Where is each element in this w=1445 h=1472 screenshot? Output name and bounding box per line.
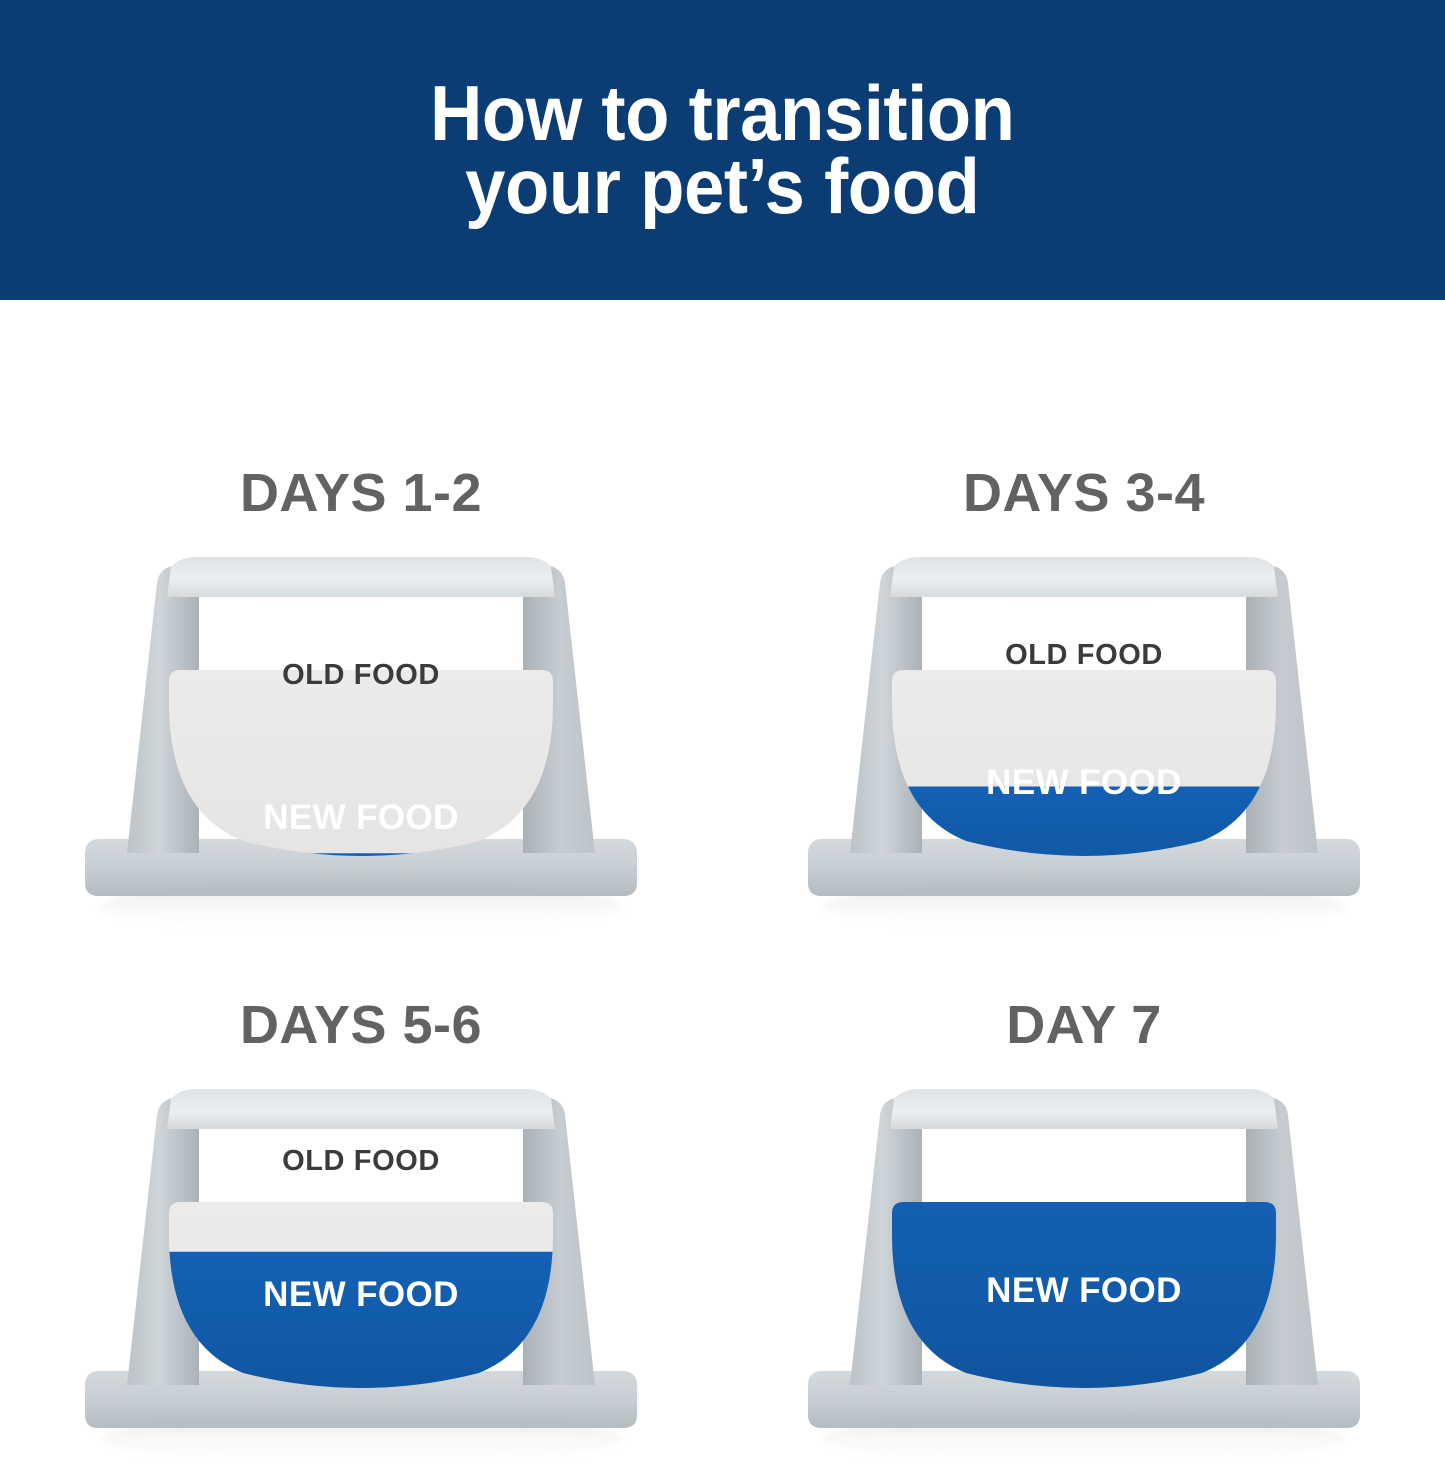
page-title-line-1: How to transition (430, 77, 1014, 150)
bowl-panel: DAY 7 (723, 900, 1445, 1472)
bowl-rim (890, 1089, 1278, 1129)
bowl-rim (890, 557, 1278, 597)
bowl-svg (802, 1085, 1366, 1430)
bowl-panel: DAYS 1-2 (0, 368, 722, 940)
food-bowl-graphic: NEW FOOD (802, 1085, 1366, 1430)
food-bowl-graphic: OLD FOOD NEW FOOD (79, 553, 643, 898)
bowl-panel-grid: DAYS 1-2 (0, 300, 1445, 1445)
food-bowl-graphic: OLD FOOD NEW FOOD (802, 553, 1366, 898)
panel-title: DAYS 5-6 (0, 998, 722, 1052)
page-title: How to transition your pet’s food (430, 77, 1014, 224)
bowl-svg (79, 553, 643, 898)
panel-title: DAY 7 (723, 998, 1445, 1052)
page-title-line-2: your pet’s food (430, 150, 1014, 223)
bowl-rim (167, 1089, 555, 1129)
panel-title: DAYS 1-2 (0, 466, 722, 520)
panel-title: DAYS 3-4 (723, 466, 1445, 520)
bowl-panel: DAYS 5-6 (0, 900, 722, 1472)
bowl-svg (802, 553, 1366, 898)
header-band: How to transition your pet’s food (0, 0, 1445, 300)
bowl-svg (79, 1085, 643, 1430)
bowl-panel: DAYS 3-4 (723, 368, 1445, 940)
bowl-rim (167, 557, 555, 597)
food-bowl-graphic: OLD FOOD NEW FOOD (79, 1085, 643, 1430)
infographic-page: How to transition your pet’s food DAYS 1… (0, 0, 1445, 1445)
